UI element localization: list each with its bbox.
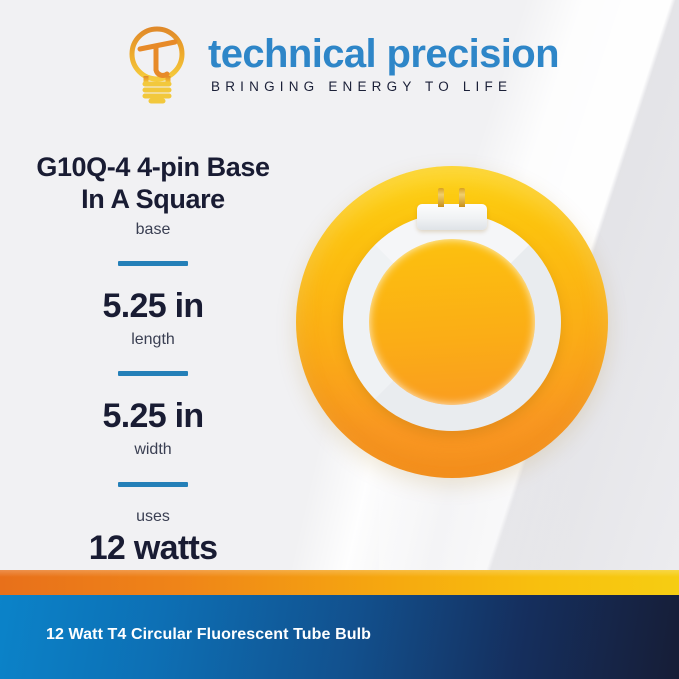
- four-pin-base-icon: [435, 188, 469, 208]
- spec-value-width: 5.25 in: [103, 396, 204, 436]
- footer-banner: 12 Watt T4 Circular Fluorescent Tube Bul…: [0, 595, 679, 679]
- spec-value-length: 5.25 in: [103, 286, 204, 326]
- spec-value-wattage: 12 watts: [89, 528, 218, 568]
- spec-value-base-line2: In A Square: [36, 184, 269, 216]
- spec-item-base: G10Q-4 4-pin Base In A Square base: [36, 152, 269, 239]
- spec-label-width: width: [103, 440, 204, 459]
- brand-header: technical precision BRINGING ENERGY TO L…: [0, 0, 679, 128]
- brand-name: technical precision: [208, 34, 559, 75]
- circular-fluorescent-tube-icon: [343, 213, 561, 431]
- pin-2: [459, 188, 465, 207]
- logo-lockup: technical precision BRINGING ENERGY TO L…: [120, 22, 559, 106]
- spec-item-length: 5.25 in length: [103, 286, 204, 349]
- spec-divider-3: [118, 482, 188, 487]
- spec-label-length: length: [103, 330, 204, 349]
- spec-item-width: 5.25 in width: [103, 396, 204, 459]
- brand-text-block: technical precision BRINGING ENERGY TO L…: [208, 34, 559, 95]
- spec-divider-2: [118, 371, 188, 376]
- brand-tagline: BRINGING ENERGY TO LIFE: [211, 79, 559, 94]
- product-title: 12 Watt T4 Circular Fluorescent Tube Bul…: [46, 626, 371, 644]
- orange-accent-bar: [0, 570, 679, 595]
- spec-label-base: base: [36, 220, 269, 239]
- product-infographic: technical precision BRINGING ENERGY TO L…: [0, 0, 679, 679]
- spec-item-wattage: uses 12 watts: [89, 507, 218, 568]
- spec-divider-1: [118, 261, 188, 266]
- specification-list: G10Q-4 4-pin Base In A Square base 5.25 …: [8, 152, 298, 568]
- lightbulb-t-icon: [120, 22, 194, 106]
- spec-value-base-line1: G10Q-4 4-pin Base: [36, 152, 269, 184]
- pin-1: [438, 188, 444, 207]
- spec-label-wattage: uses: [89, 507, 218, 526]
- product-image: [296, 166, 608, 478]
